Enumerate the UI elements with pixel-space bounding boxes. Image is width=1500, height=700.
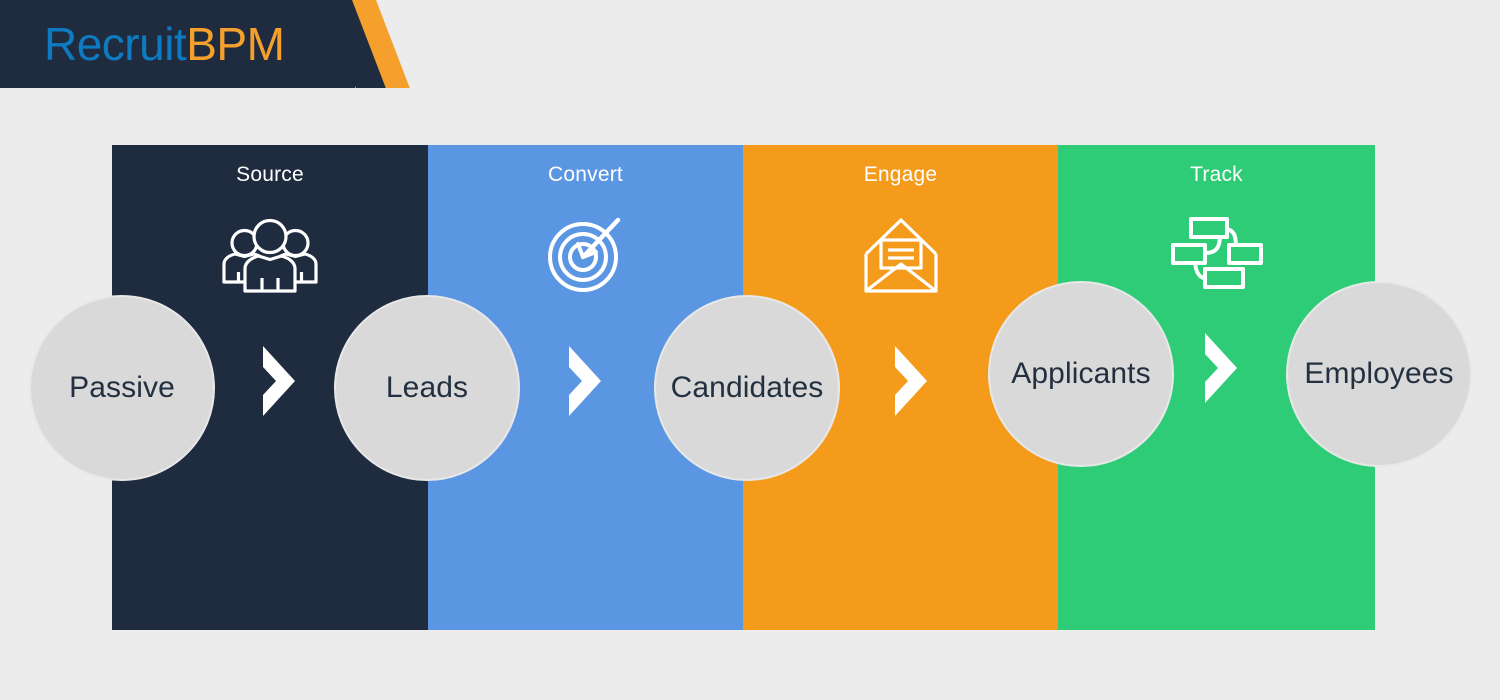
pipeline-node-label: Leads xyxy=(386,371,468,405)
open-envelope-icon xyxy=(849,207,953,299)
brand-logo: RecruitBPM xyxy=(44,11,284,77)
chevron-right-icon xyxy=(1200,330,1242,406)
pipeline-node-label: Passive xyxy=(69,371,175,405)
pipeline-node-passive[interactable]: Passive xyxy=(29,295,215,481)
pipeline-node-candidates[interactable]: Candidates xyxy=(654,295,840,481)
pipeline-node-employees[interactable]: Employees xyxy=(1286,281,1472,467)
stage-label-track: Track xyxy=(1058,163,1375,187)
chevron-right-icon xyxy=(890,343,932,419)
pipeline-node-applicants[interactable]: Applicants xyxy=(988,281,1174,467)
stage-label-source: Source xyxy=(112,163,428,187)
pipeline-node-label: Applicants xyxy=(1011,357,1150,391)
pipeline-node-label: Employees xyxy=(1304,357,1453,391)
pipeline-node-leads[interactable]: Leads xyxy=(334,295,520,481)
chevron-right-icon xyxy=(258,343,300,419)
brand-logo-bpm: BPM xyxy=(186,18,284,70)
target-arrow-icon xyxy=(534,207,638,299)
pipeline-node-label: Candidates xyxy=(671,371,824,405)
brand-logo-recruit: Recruit xyxy=(44,18,186,70)
stage-label-convert: Convert xyxy=(428,163,743,187)
people-group-icon xyxy=(218,207,322,299)
chevron-right-icon xyxy=(564,343,606,419)
stage-label-engage: Engage xyxy=(743,163,1058,187)
workflow-chart-icon xyxy=(1165,207,1269,299)
